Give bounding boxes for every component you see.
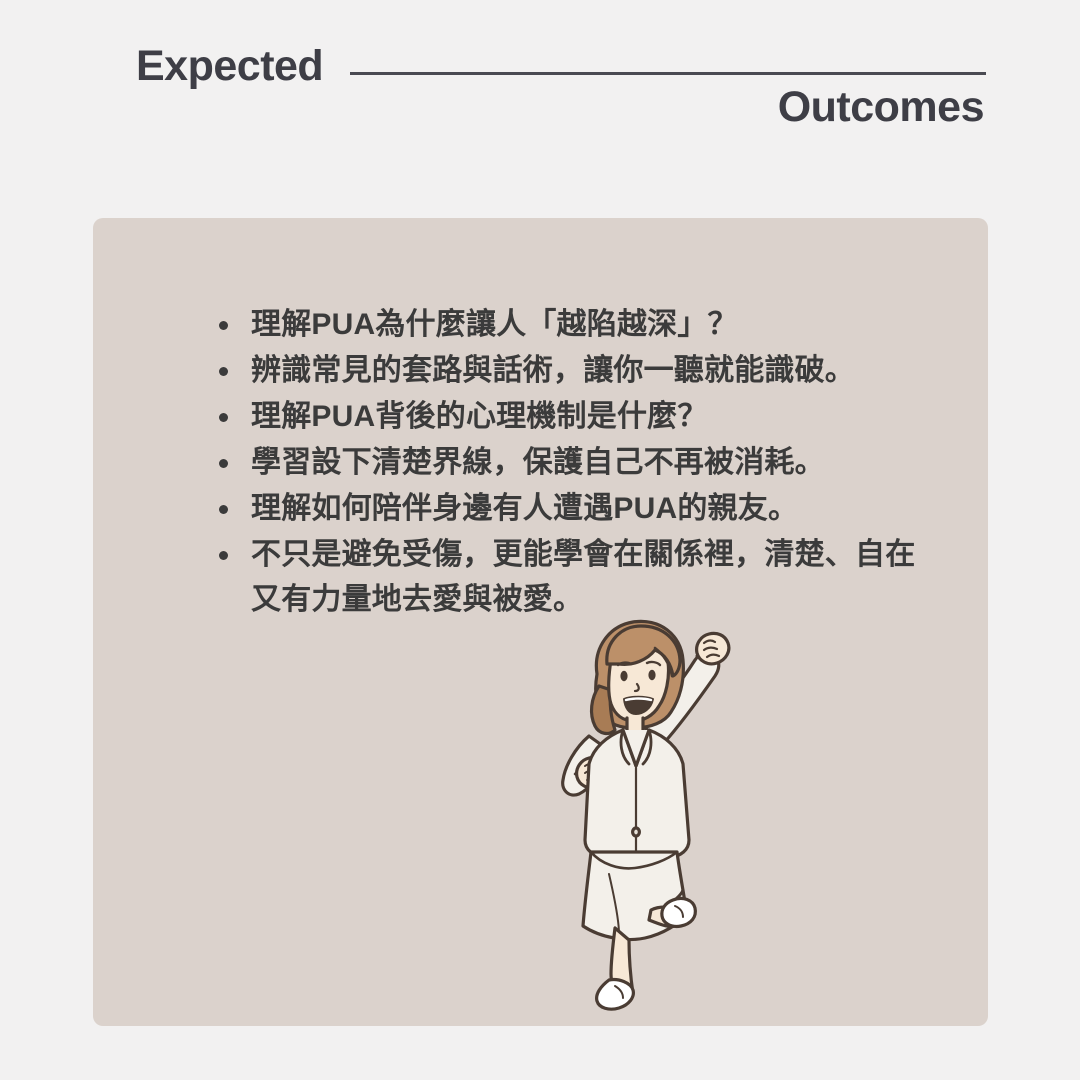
list-item: 理解PUA為什麼讓人「越陷越深」？ [209,302,929,347]
cheering-woman-illustration [523,608,783,1018]
header-divider-line [350,72,986,75]
header: Expected Outcomes [0,0,1080,200]
list-item: 辨識常見的套路與話術，讓你一聽就能識破。 [209,348,929,393]
slide-root: Expected Outcomes 理解PUA為什麼讓人「越陷越深」？ 辨識常見… [0,0,1080,1080]
cheering-woman-svg [523,608,783,1018]
page-title-expected: Expected [136,45,323,88]
page-title-outcomes: Outcomes [778,86,984,129]
content-panel: 理解PUA為什麼讓人「越陷越深」？ 辨識常見的套路與話術，讓你一聽就能識破。 理… [93,218,988,1026]
list-item: 學習設下清楚界線，保護自己不再被消耗。 [209,440,929,485]
outcomes-list: 理解PUA為什麼讓人「越陷越深」？ 辨識常見的套路與話術，讓你一聽就能識破。 理… [209,302,929,623]
list-item: 理解PUA背後的心理機制是什麼？ [209,394,929,439]
list-item: 理解如何陪伴身邊有人遭遇PUA的親友。 [209,486,929,531]
